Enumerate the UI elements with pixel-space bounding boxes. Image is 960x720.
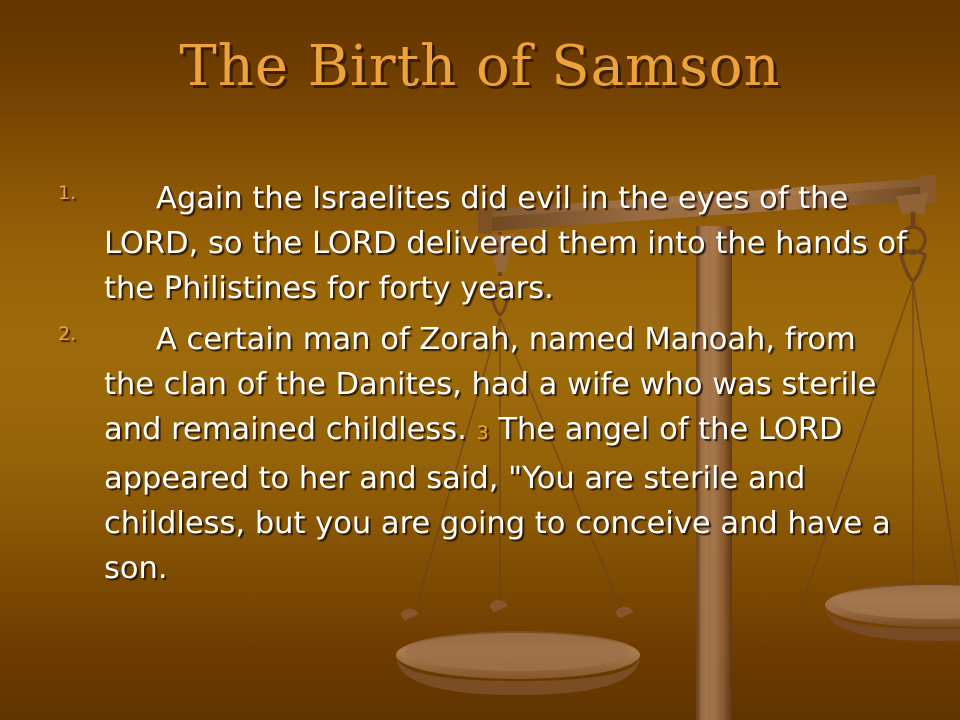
paragraph-2-text: A certain man of Zorah, named Manoah, fr… (104, 317, 912, 591)
numbered-paragraph-1: 1. Again the Israelites did evil in the … (48, 176, 912, 311)
list-marker-1: 1. (58, 184, 76, 203)
slide-body: 1. Again the Israelites did evil in the … (48, 176, 912, 597)
numbered-paragraph-2: 2. A certain man of Zorah, named Manoah,… (48, 317, 912, 591)
slide: The Birth of Samson 1. Again the Israeli… (0, 0, 960, 720)
list-marker-2: 2. (58, 325, 76, 344)
paragraph-1-text: Again the Israelites did evil in the eye… (104, 176, 912, 311)
slide-title: The Birth of Samson (0, 34, 960, 99)
verse-number-3: 3 (477, 422, 489, 444)
scale-pan-left (396, 600, 640, 695)
